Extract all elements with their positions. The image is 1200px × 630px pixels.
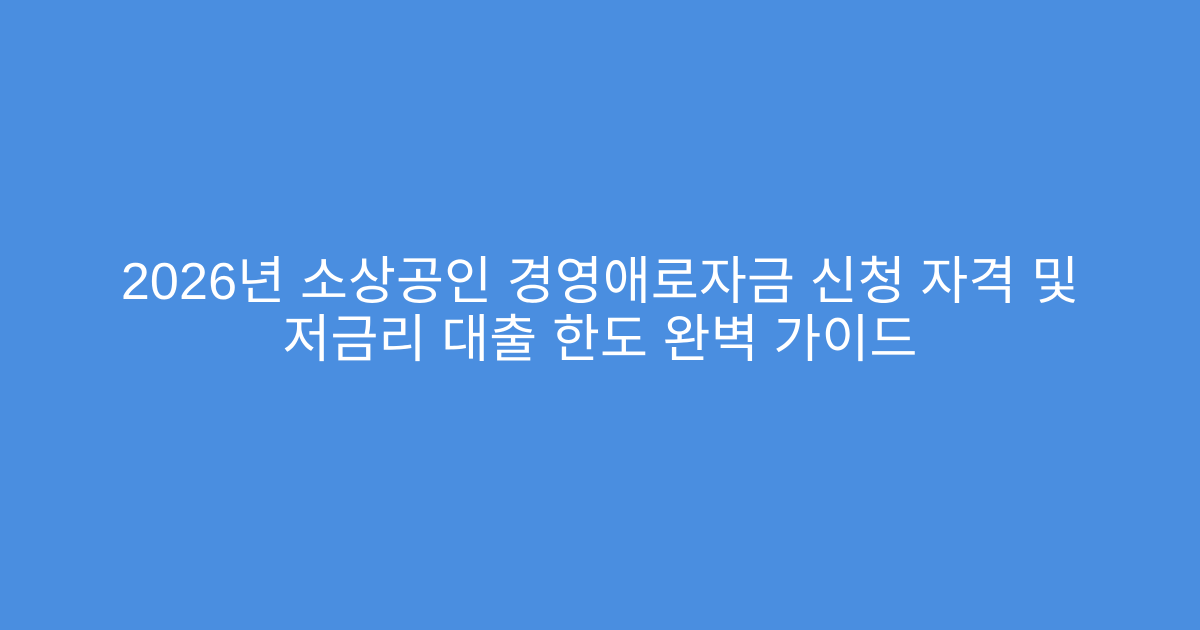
thumbnail-card: 2026년 소상공인 경영애로자금 신청 자격 및 저금리 대출 한도 완벽 가… — [0, 0, 1200, 630]
page-title: 2026년 소상공인 경영애로자금 신청 자격 및 저금리 대출 한도 완벽 가… — [70, 253, 1130, 369]
title-line-1: 2026년 소상공인 경영애로자금 신청 자격 및 — [70, 253, 1130, 311]
title-line-2: 저금리 대출 한도 완벽 가이드 — [70, 311, 1130, 369]
